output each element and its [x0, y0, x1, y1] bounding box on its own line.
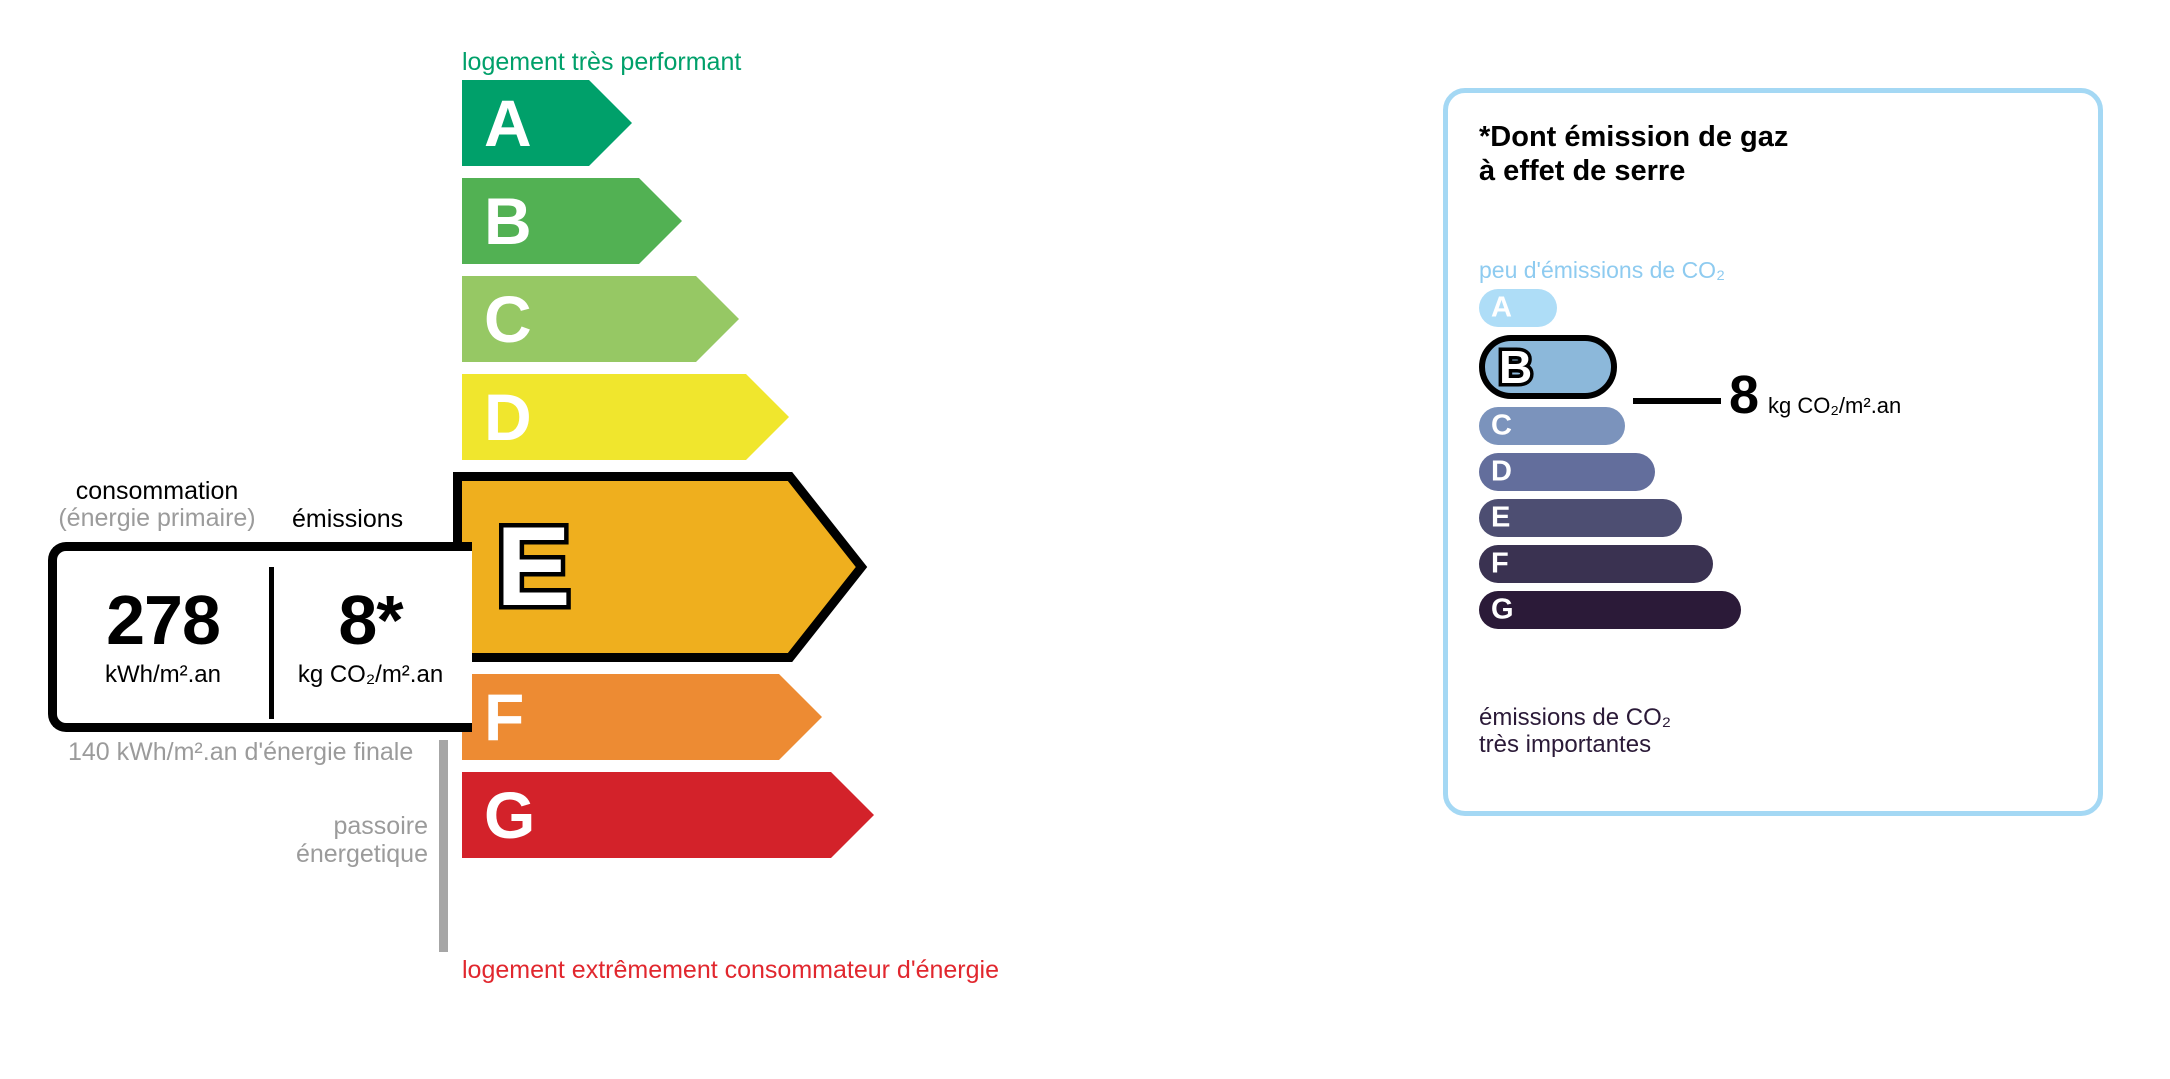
co2-bar-letter-b: B	[1499, 344, 1532, 390]
co2-bar-letter-c: C	[1491, 412, 1512, 441]
consumption-label: consommation (énergie primaire)	[48, 478, 266, 532]
consumption-label-main: consommation	[48, 478, 266, 505]
co2-value-annotation: 8 kg CO₂/m².an	[1729, 368, 1901, 422]
energy-value-box: 278 kWh/m².an 8* kg CO₂/m².an	[48, 542, 472, 732]
energy-band-letter-c: C	[484, 286, 532, 352]
energy-band-c: C	[462, 276, 739, 362]
co2-leader-line	[1633, 398, 1721, 404]
final-energy-note: 140 kWh/m².an d'énergie finale	[68, 738, 413, 766]
consumption-value: 278	[106, 585, 220, 655]
co2-bar-a: A	[1479, 289, 1557, 327]
co2-bar-c: C	[1479, 407, 1625, 445]
co2-bar-d: D	[1479, 453, 1655, 491]
energy-band-f: F	[462, 674, 822, 760]
emissions-unit: kg CO₂/m².an	[298, 661, 443, 689]
co2-bar-e: E	[1479, 499, 1682, 537]
passoire-energetique-note: passoire énergetique	[200, 812, 428, 868]
energy-band-letter-f: F	[484, 684, 524, 750]
energy-band-letter-b: B	[484, 188, 532, 254]
co2-emissions-panel: *Dont émission de gaz à effet de serre p…	[1443, 88, 2103, 816]
emissions-value-cell: 8* kg CO₂/m².an	[269, 551, 472, 723]
energy-band-letter-a: A	[484, 90, 532, 156]
energy-band-letter-d: D	[484, 384, 532, 450]
co2-bar-letter-g: G	[1491, 596, 1514, 625]
energy-band-letter-e: E	[496, 511, 571, 623]
consumption-value-cell: 278 kWh/m².an	[57, 551, 269, 723]
consumption-unit: kWh/m².an	[105, 661, 221, 689]
passoire-bracket-bar	[439, 740, 448, 952]
energy-top-caption: logement très performant	[462, 48, 741, 77]
consumption-label-sub: (énergie primaire)	[48, 505, 266, 532]
energy-performance-panel: logement très performant ABCDEFG logemen…	[0, 0, 1400, 1079]
energy-bottom-caption: logement extrêmement consommateur d'éner…	[462, 956, 999, 985]
energy-band-d: D	[462, 374, 789, 460]
co2-bar-letter-e: E	[1491, 504, 1510, 533]
co2-bar-letter-d: D	[1491, 458, 1512, 487]
energy-band-e: E	[462, 472, 866, 662]
emissions-label: émissions	[292, 505, 403, 534]
co2-bar-letter-f: F	[1491, 550, 1509, 579]
energy-band-a: A	[462, 80, 632, 166]
co2-bar-b: B	[1479, 335, 1617, 399]
energy-band-letter-g: G	[484, 782, 535, 848]
co2-value-unit: kg CO₂/m².an	[1768, 393, 1901, 419]
co2-bar-g: G	[1479, 591, 1741, 629]
co2-bar-letter-a: A	[1491, 294, 1512, 323]
co2-panel-title: *Dont émission de gaz à effet de serre	[1479, 121, 1788, 188]
energy-band-g: G	[462, 772, 874, 858]
co2-bar-f: F	[1479, 545, 1713, 583]
energy-band-b: B	[462, 178, 682, 264]
co2-value-number: 8	[1729, 368, 1759, 422]
emissions-value: 8*	[338, 585, 402, 655]
co2-bottom-caption: émissions de CO₂ très importantes	[1479, 705, 1671, 759]
co2-top-caption: peu d'émissions de CO₂	[1479, 257, 1725, 284]
